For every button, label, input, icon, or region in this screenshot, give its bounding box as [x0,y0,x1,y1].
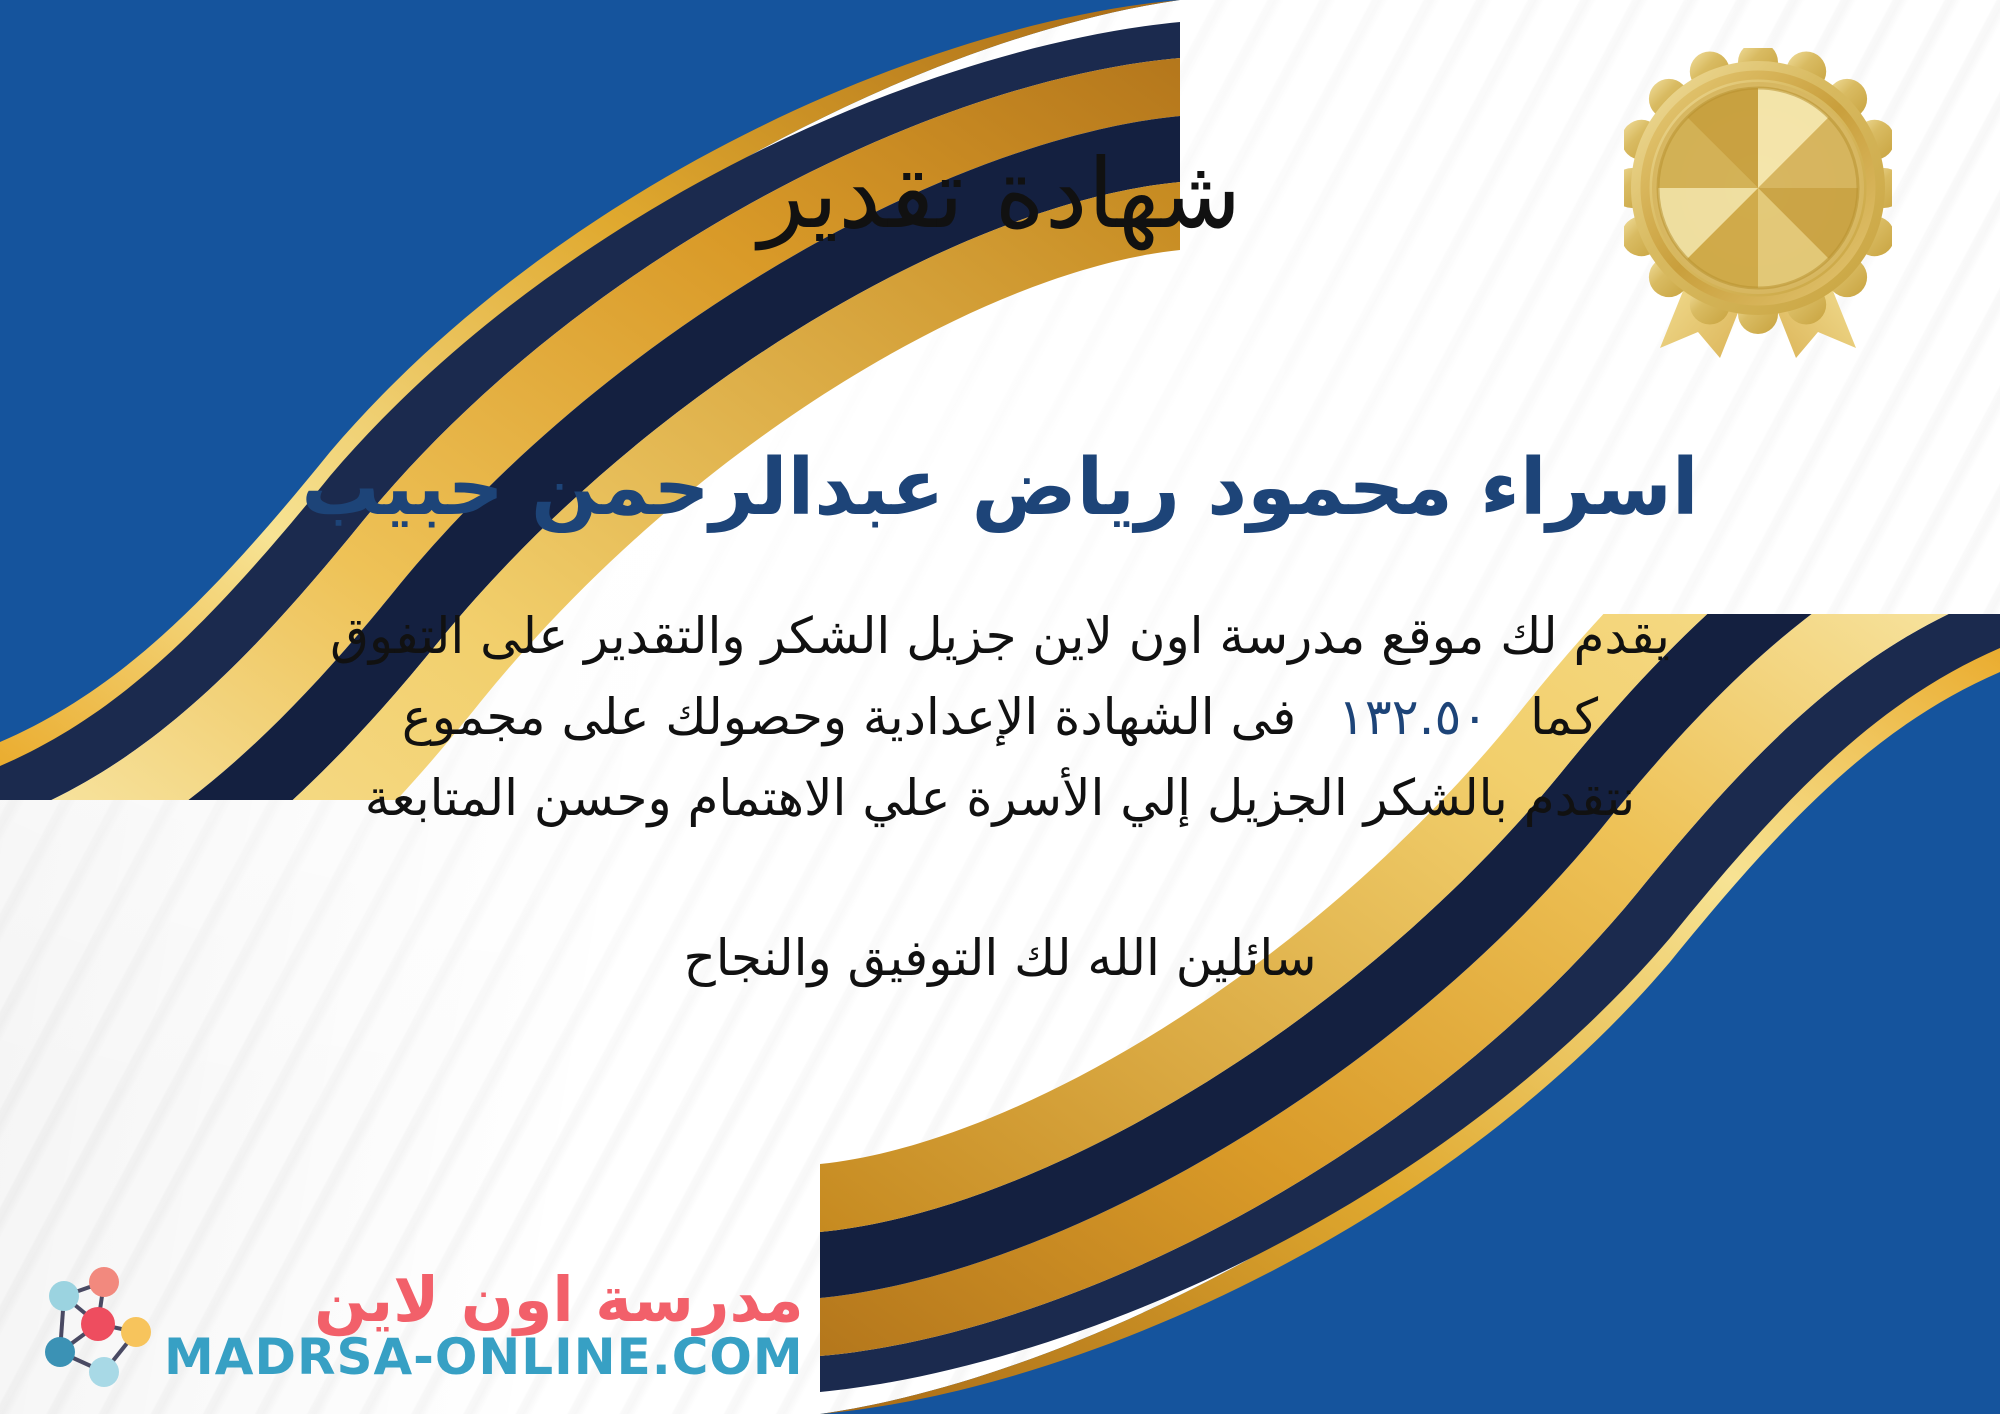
body-line-1: يقدم لك موقع مدرسة اون لاين جزيل الشكر و… [260,596,1740,677]
brand-website-url: MADRSA-ONLINE.COM [164,1331,804,1384]
certificate-canvas: شهادة تقدير اسراء محمود رياض عبدالرحمن ح… [0,0,2000,1414]
certificate-body: يقدم لك موقع مدرسة اون لاين جزيل الشكر و… [260,596,1740,839]
page-title: شهادة تقدير [759,146,1242,242]
grade-value: ١٣٢.٥٠ [1312,688,1514,746]
closing-line: سائلين الله لك التوفيق والنجاح [683,923,1316,993]
network-nodes-icon [30,1260,160,1392]
body-line-2: كما ١٣٢.٥٠ فى الشهادة الإعدادية وحصولك ع… [260,677,1740,758]
recipient-name: اسراء محمود رياض عبدالرحمن حبيب [301,448,1698,530]
certificate-content: شهادة تقدير اسراء محمود رياض عبدالرحمن ح… [0,0,2000,1414]
body-line-2-suffix: كما [1530,688,1598,746]
brand-logo-text: مدرسة اون لاين MADRSA-ONLINE.COM [164,1269,804,1384]
body-line-3: نتقدم بالشكر الجزيل إلي الأسرة علي الاهت… [260,758,1740,839]
brand-logo[interactable]: مدرسة اون لاين MADRSA-ONLINE.COM [24,1260,804,1392]
brand-name-arabic: مدرسة اون لاين [314,1269,804,1331]
body-line-2-prefix: فى الشهادة الإعدادية وحصولك على مجموع [402,688,1296,746]
